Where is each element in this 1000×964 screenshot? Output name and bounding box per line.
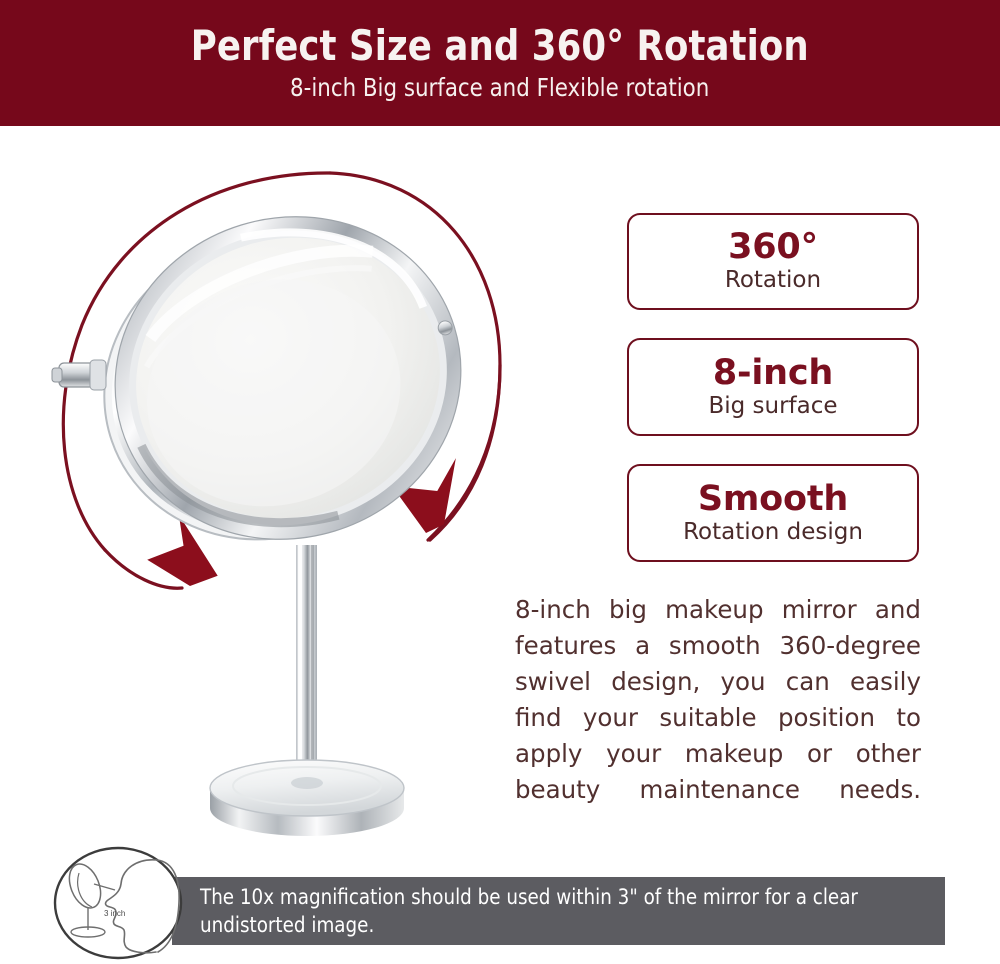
feature-headline: Smooth [698, 482, 848, 517]
feature-box-smooth: Smooth Rotation design [627, 464, 919, 562]
mirror-illustration [30, 140, 550, 840]
distance-diagram-badge: 3 inch [52, 846, 184, 960]
page-title: Perfect Size and 360° Rotation [191, 24, 809, 68]
badge-distance-label: 3 inch [104, 909, 125, 918]
header-band: Perfect Size and 360° Rotation 8-inch Bi… [0, 0, 1000, 126]
feature-box-size: 8-inch Big surface [627, 338, 919, 436]
mirror-stem [296, 545, 317, 780]
product-feature-graphic: Perfect Size and 360° Rotation 8-inch Bi… [0, 0, 1000, 964]
bottom-banner-text: The 10x magnification should be used wit… [200, 883, 908, 939]
mirror-base [210, 760, 404, 836]
feature-subtext: Rotation [725, 268, 821, 292]
product-image [30, 140, 550, 840]
feature-subtext: Rotation design [683, 520, 863, 544]
feature-headline: 8-inch [713, 356, 833, 391]
description-paragraph: 8-inch big makeup mirror and features a … [515, 592, 921, 844]
feature-box-rotation: 360° Rotation [627, 213, 919, 310]
page-subtitle: 8-inch Big surface and Flexible rotation [290, 74, 709, 102]
feature-headline: 360° [728, 230, 818, 265]
feature-subtext: Big surface [708, 394, 837, 418]
pivot-knob [52, 360, 106, 390]
